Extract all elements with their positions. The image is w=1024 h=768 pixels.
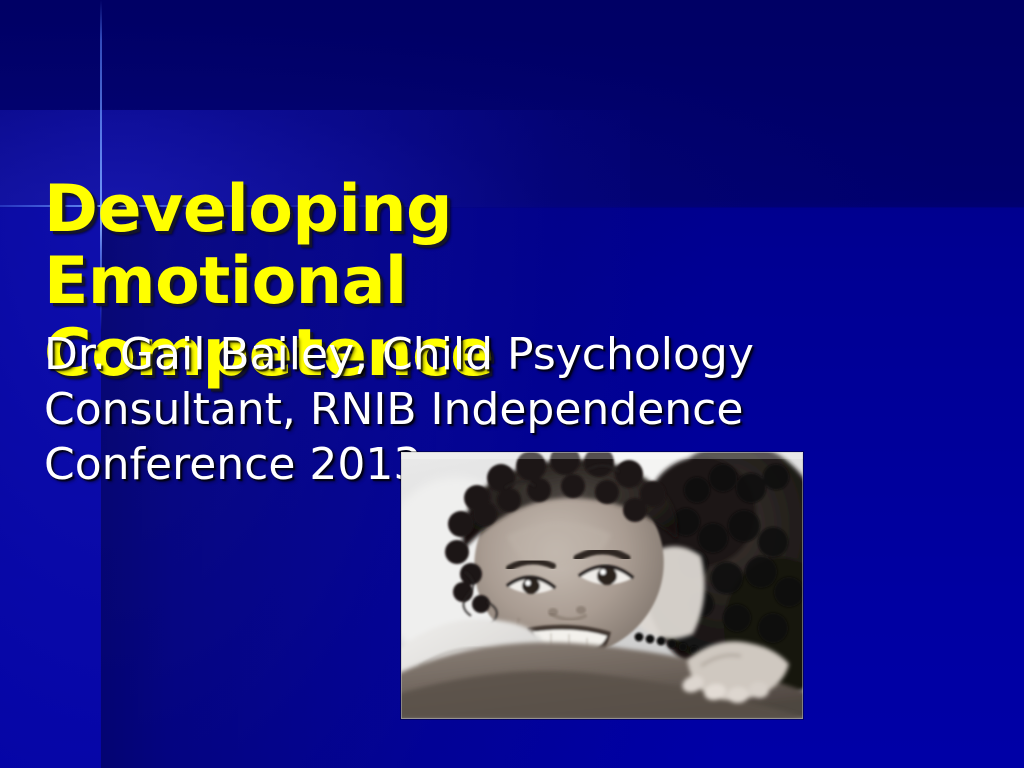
photo-graphic — [401, 452, 803, 719]
presentation-slide: Developing Emotional Competence Dr. Gail… — [0, 0, 1024, 768]
photo-child-hugging-adult — [401, 452, 803, 719]
